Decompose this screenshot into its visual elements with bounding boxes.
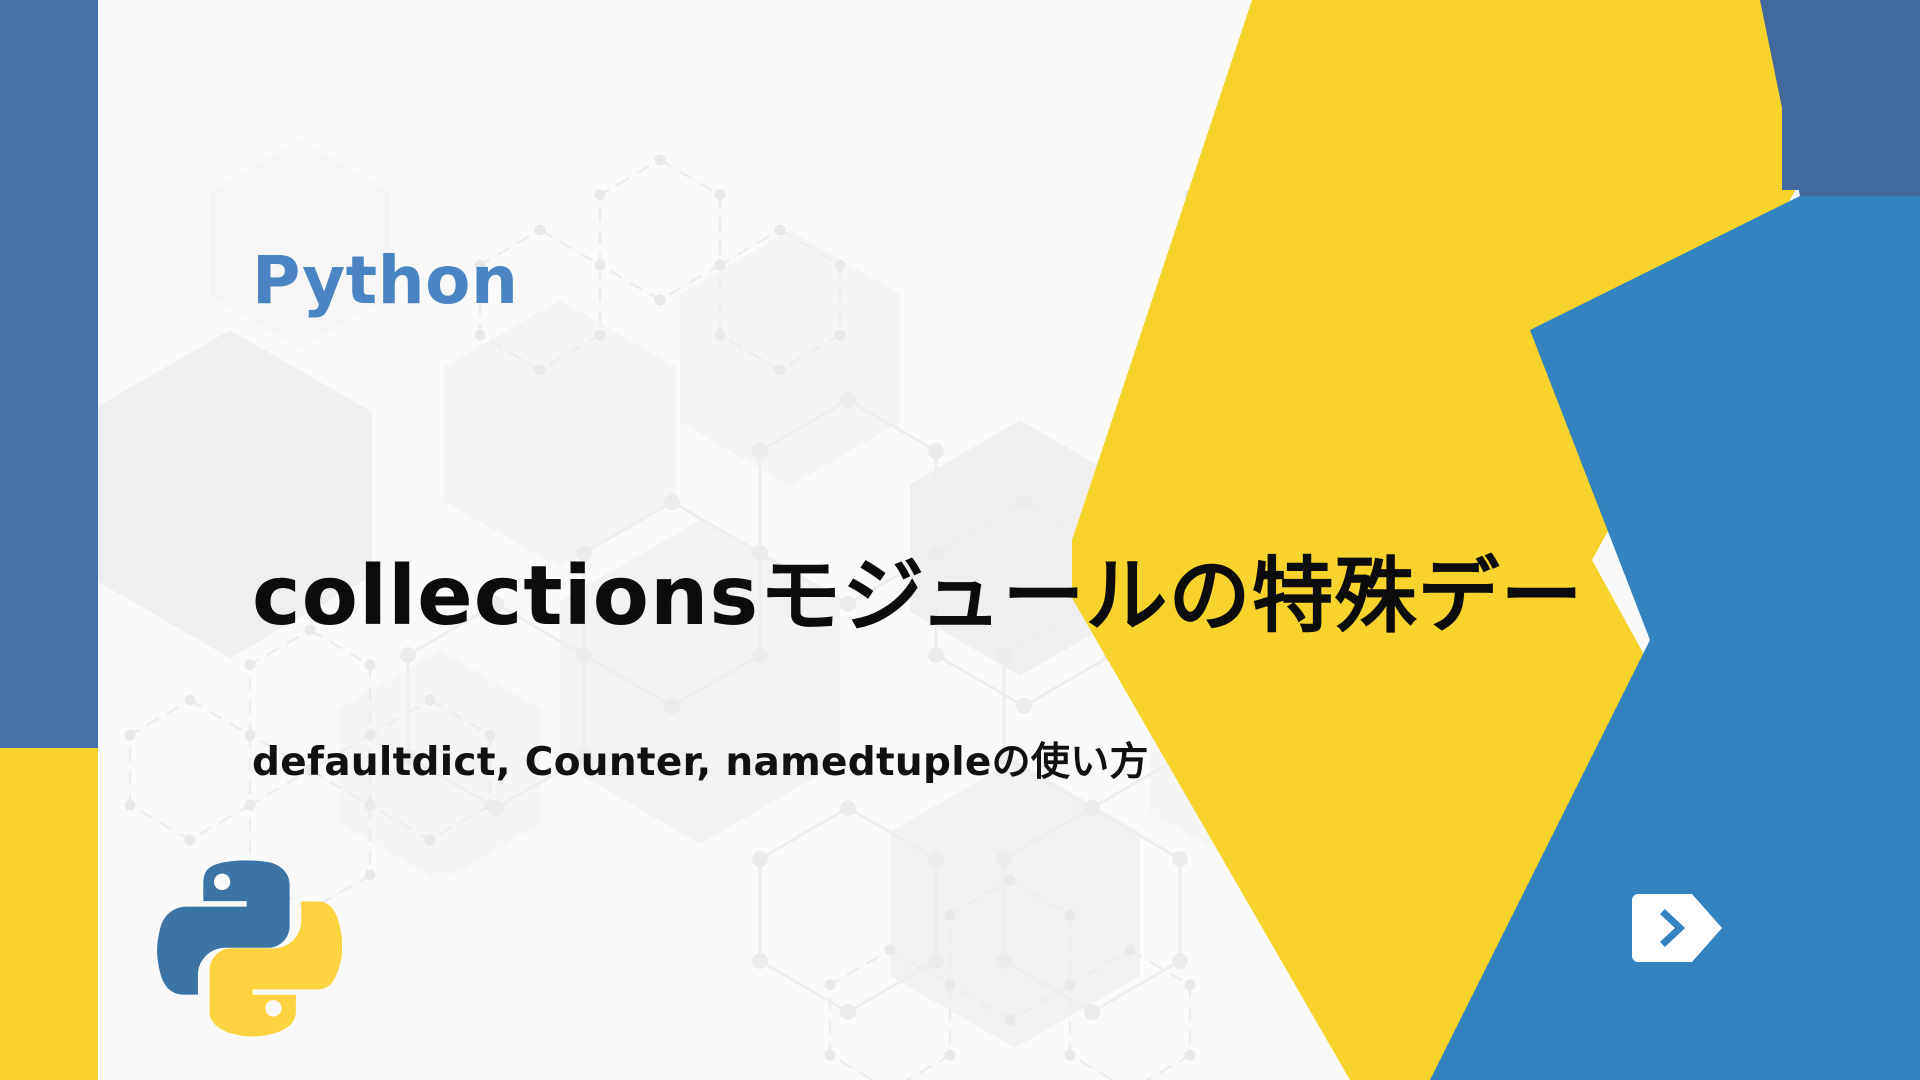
left-accent-bar-blue: [0, 0, 98, 748]
page-subtitle: defaultdict, Counter, namedtupleの使い方: [252, 740, 1149, 787]
slide-canvas: Python collectionsモジュールの特殊デー defaultdict…: [0, 0, 1920, 1080]
next-button[interactable]: [1632, 890, 1728, 966]
chevron-right-icon[interactable]: [1632, 890, 1728, 966]
page-title: collectionsモジュールの特殊デー: [252, 553, 1583, 642]
python-logo: [152, 850, 342, 1040]
category-label: Python: [252, 248, 518, 314]
left-accent-bar-yellow: [0, 748, 98, 1080]
python-logo-icon: [152, 850, 342, 1040]
